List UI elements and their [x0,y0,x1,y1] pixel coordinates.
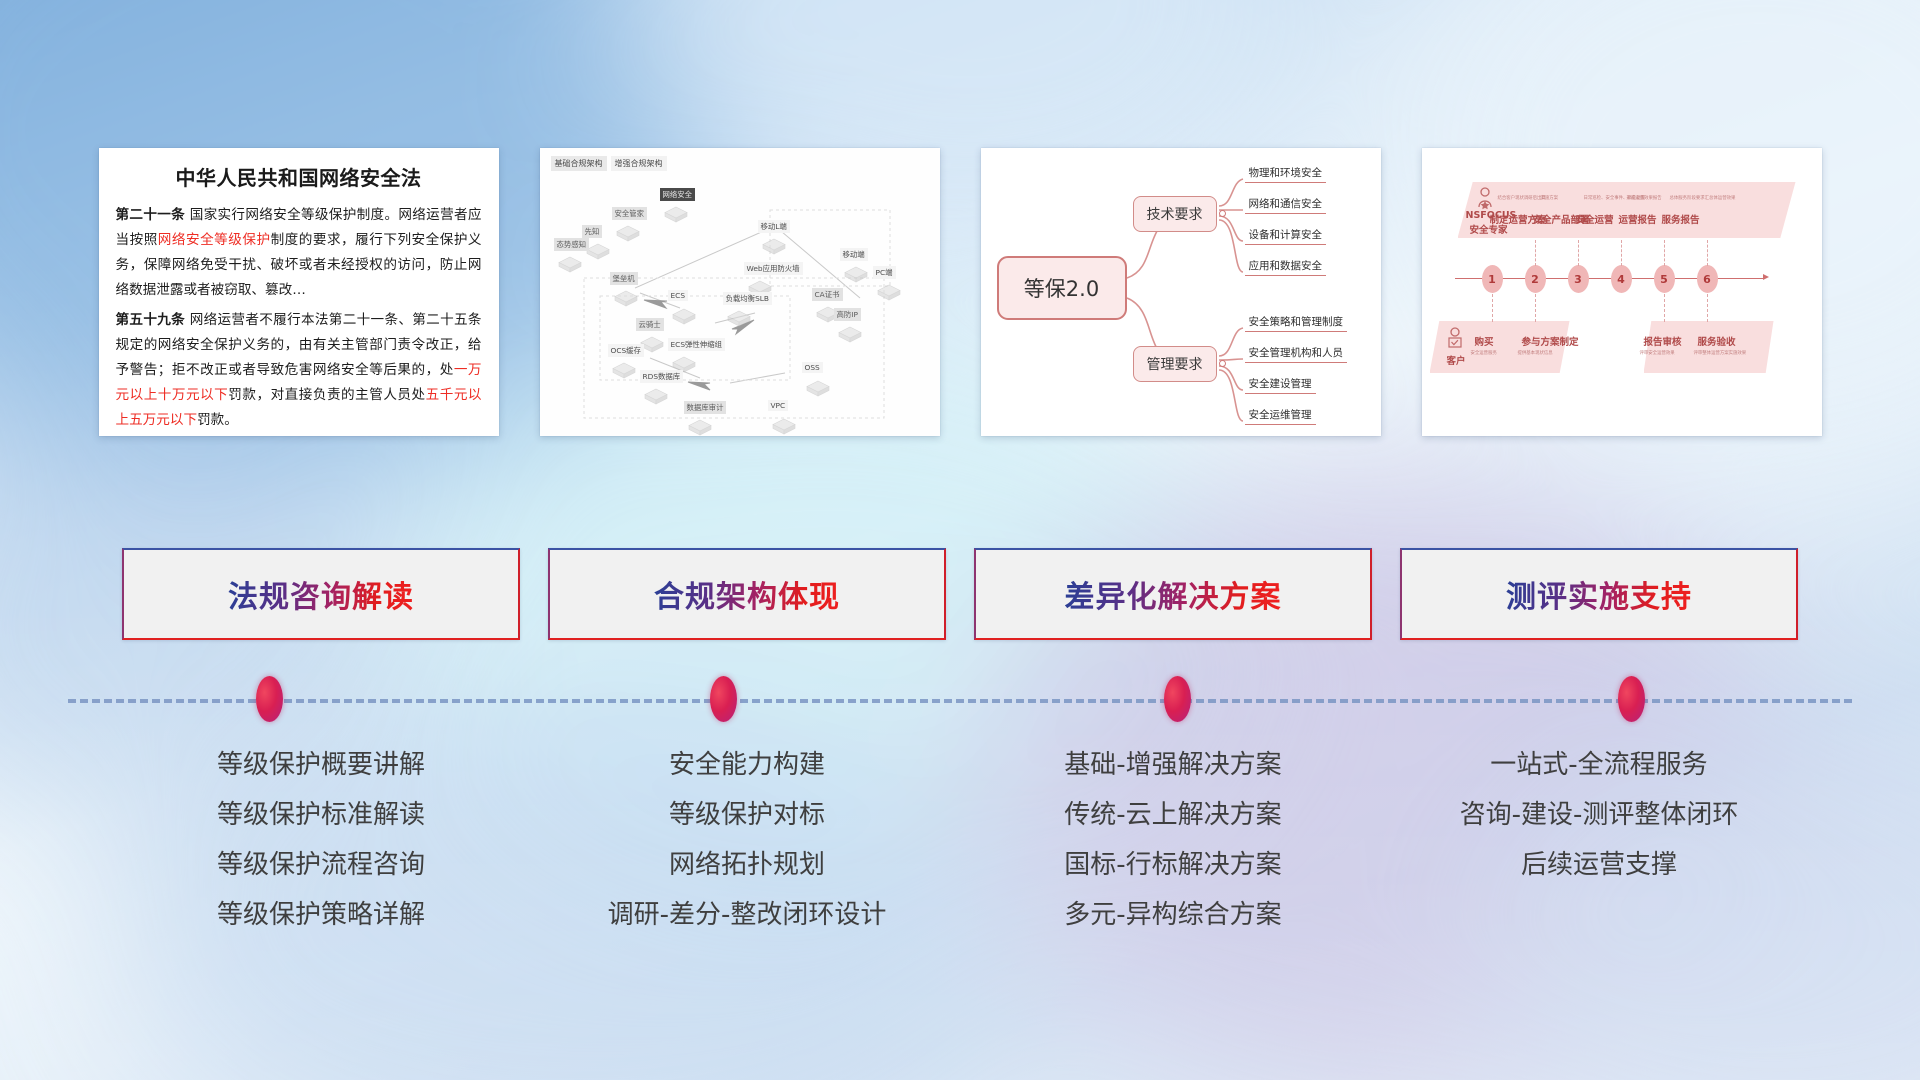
detail-item: 等级保护策略详解 [122,890,520,940]
headline-label: 法规咨询解读 [228,572,414,616]
arch-node-label: 先知 [582,225,603,238]
headline-boxes-row: 法规咨询解读 合规架构体现 差异化解决方案 测评实施支持 [0,548,1920,640]
detail-item: 等级保护概要讲解 [122,740,520,790]
reference-image-cards-row: 中华人民共和国网络安全法 第二十一条 国家实行网络安全等级保护制度。网络运营者应… [0,148,1920,436]
detail-item: 调研-差分-整改闭环设计 [548,890,946,940]
card-cybersecurity-law: 中华人民共和国网络安全法 第二十一条 国家实行网络安全等级保护制度。网络运营者应… [99,148,499,436]
timeline-step-title: 服务报告 [1662,212,1700,226]
expert-person-icon [1472,185,1498,211]
detail-item: 国标-行标解决方案 [974,840,1372,890]
arch-node-label: 移动L端 [758,220,790,233]
timeline-connector [1621,240,1622,266]
mindmap-leaf: 安全管理机构和人员 [1245,346,1348,363]
timeline-step-title: 服务验收 [1698,334,1736,348]
detail-item: 安全能力构建 [548,740,946,790]
timeline-connector [1664,240,1665,266]
mindmap-leaf: 安全建设管理 [1245,377,1316,394]
arch-tab-basic: 基础合规架构 [551,156,607,171]
mindmap-collapse-dot-management[interactable] [1219,360,1226,367]
timeline-step-node[interactable]: 6 [1697,265,1718,293]
detail-column-regulation: 等级保护概要讲解等级保护标准解读等级保护流程咨询等级保护策略详解 [122,740,520,940]
timeline-connector [1578,240,1579,266]
timeline-step-node[interactable]: 2 [1525,265,1546,293]
timeline-step-node[interactable]: 1 [1482,265,1503,293]
detail-item: 等级保护对标 [548,790,946,840]
detail-column-assessment: 一站式-全流程服务咨询-建设-测评整体闭环后续运营支撑 [1400,740,1798,940]
timeline-connector [1707,240,1708,266]
timeline-step-subtitle: 形成运营效果报告 [1627,195,1662,201]
mindmap-branch-technical: 技术要求 [1133,196,1217,232]
arch-tab-group: 基础合规架构 增强合规架构 [551,156,667,171]
arch-node-label: 移动端 [840,248,868,261]
mindmap-leaf: 设备和计算安全 [1245,228,1327,245]
timeline-step-subtitle: 评审安全运营效果 [1640,350,1675,356]
process-timeline [0,660,1920,740]
timeline-dashed-line [68,699,1852,703]
mindmap-collapse-dot-technical[interactable] [1219,210,1226,217]
arch-node-label: ECS [668,290,689,301]
headline-box-architecture[interactable]: 合规架构体现 [548,548,946,640]
timeline-step-title: 报告审核 [1644,334,1682,348]
detail-column-solution: 基础-增强解决方案传统-云上解决方案国标-行标解决方案多元-异构综合方案 [974,740,1372,940]
customer-role: 客户 [1447,353,1466,367]
arch-node-label: PC端 [873,266,896,279]
timeline-step-title: 参与方案制定 [1522,334,1579,348]
law-text-after: 罚款。 [197,412,238,428]
law-highlight: 网络安全等级保护 [158,232,271,248]
mindmap-branch-management: 管理要求 [1133,346,1217,382]
arch-node-label: 高防IP [834,308,861,321]
law-paragraph-21: 第二十一条 国家实行网络安全等级保护制度。网络运营者应当按照网络安全等级保护制度… [116,203,482,304]
timeline-connector [1707,294,1708,322]
mindmap-leaf: 安全运维管理 [1245,408,1316,425]
timeline-bullet[interactable] [1164,676,1191,722]
detail-item: 等级保护流程咨询 [122,840,520,890]
arch-node-label: 堡垒机 [610,272,638,285]
headline-label: 差异化解决方案 [1065,572,1282,616]
timeline-step-subtitle: 评审整体运营方案实施效果 [1694,350,1747,356]
timeline-step-node[interactable]: 3 [1568,265,1589,293]
headline-label: 合规架构体现 [654,572,840,616]
detail-item: 后续运营支撑 [1400,840,1798,890]
detail-item: 传统-云上解决方案 [974,790,1372,840]
detail-item: 基础-增强解决方案 [974,740,1372,790]
arch-node-label: ECS弹性伸缩组 [668,338,725,351]
mindmap-leaf: 应用和数据安全 [1245,259,1327,276]
law-paragraph-59: 第五十九条 网络运营者不履行本法第二十一条、第二十五条规定的网络安全保护义务的，… [116,308,482,434]
timeline-bullet[interactable] [256,676,283,722]
mindmap-root-node: 等保2.0 [997,256,1127,320]
timeline-step-node[interactable]: 5 [1654,265,1675,293]
timeline-step-title: 运营报告 [1619,212,1657,226]
timeline-step-node[interactable]: 4 [1611,265,1632,293]
card-mindmap-dengbao: 等保2.0 技术要求 物理和环境安全 网络和通信安全 设备和计算安全 应用和数据… [981,148,1381,436]
timeline-connector [1535,294,1536,322]
timeline-connector [1535,240,1536,266]
detail-columns-row: 等级保护概要讲解等级保护标准解读等级保护流程咨询等级保护策略详解 安全能力构建等… [0,740,1920,940]
headline-box-assessment[interactable]: 测评实施支持 [1400,548,1798,640]
arch-tab-enhanced: 增强合规架构 [611,156,667,171]
law-article-number: 第五十九条 [116,312,186,328]
arch-node-label: 数据库审计 [684,401,727,414]
timeline-connector [1664,294,1665,322]
headline-box-solution[interactable]: 差异化解决方案 [974,548,1372,640]
arch-node-label: 负载均衡SLB [723,292,772,305]
detail-column-architecture: 安全能力构建等级保护对标网络拓扑规划调研-差分-整改闭环设计 [548,740,946,940]
timeline-step-title: 购买 [1475,334,1494,348]
timeline-step-subtitle: 结合客户现状调研后出具 [1498,195,1546,201]
mindmap-leaf: 物理和环境安全 [1245,166,1327,183]
timeline-bullet[interactable] [1618,676,1645,722]
timeline-step-subtitle: 实施方案 [1541,195,1559,201]
detail-item: 等级保护标准解读 [122,790,520,840]
arch-node-label: CA证书 [812,288,843,301]
arch-node-label: 态势感知 [554,238,590,251]
mindmap-leaf: 网络和通信安全 [1245,197,1327,214]
law-text-mid: 罚款，对直接负责的主管人员处 [228,387,425,403]
arch-node-label: RDS数据库 [640,370,684,383]
timeline-step-subtitle: 总体服务阶段要求汇总体运营效果 [1670,195,1736,201]
mindmap-leaf: 安全策略和管理制度 [1245,315,1348,332]
timeline-step-subtitle: 安全运营服务 [1471,350,1497,356]
arch-node-label: VPC [768,400,789,411]
timeline-arrow-head [1763,274,1769,280]
customer-person-icon [1444,326,1466,352]
arch-node-label: OCS缓存 [608,344,644,357]
arch-node-label: OSS [802,362,823,373]
law-article-number: 第二十一条 [116,207,186,223]
detail-item: 网络拓扑规划 [548,840,946,890]
timeline-bullet[interactable] [710,676,737,722]
card-cloud-architecture: 基础合规架构 增强合规架构 [540,148,940,436]
arch-node-label: Web应用防火墙 [744,262,803,275]
detail-item: 咨询-建设-测评整体闭环 [1400,790,1798,840]
timeline-connector [1492,294,1493,322]
timeline-step-subtitle: 提供基本现状信息 [1518,350,1553,356]
headline-box-regulation[interactable]: 法规咨询解读 [122,548,520,640]
arch-node-label: 安全管家 [612,207,648,220]
timeline-step-title: 安全运营 [1576,212,1614,226]
detail-item: 多元-异构综合方案 [974,890,1372,940]
detail-item: 一站式-全流程服务 [1400,740,1798,790]
headline-label: 测评实施支持 [1506,572,1692,616]
law-title: 中华人民共和国网络安全法 [116,162,482,191]
card-service-timeline: NSFOCUS 安全专家 客户 结合客户现状调研后出具制定运营方案实施方案安全产… [1422,148,1822,436]
arch-node-label: 网络安全 [660,188,696,201]
arch-node-label: 云骑士 [636,318,664,331]
